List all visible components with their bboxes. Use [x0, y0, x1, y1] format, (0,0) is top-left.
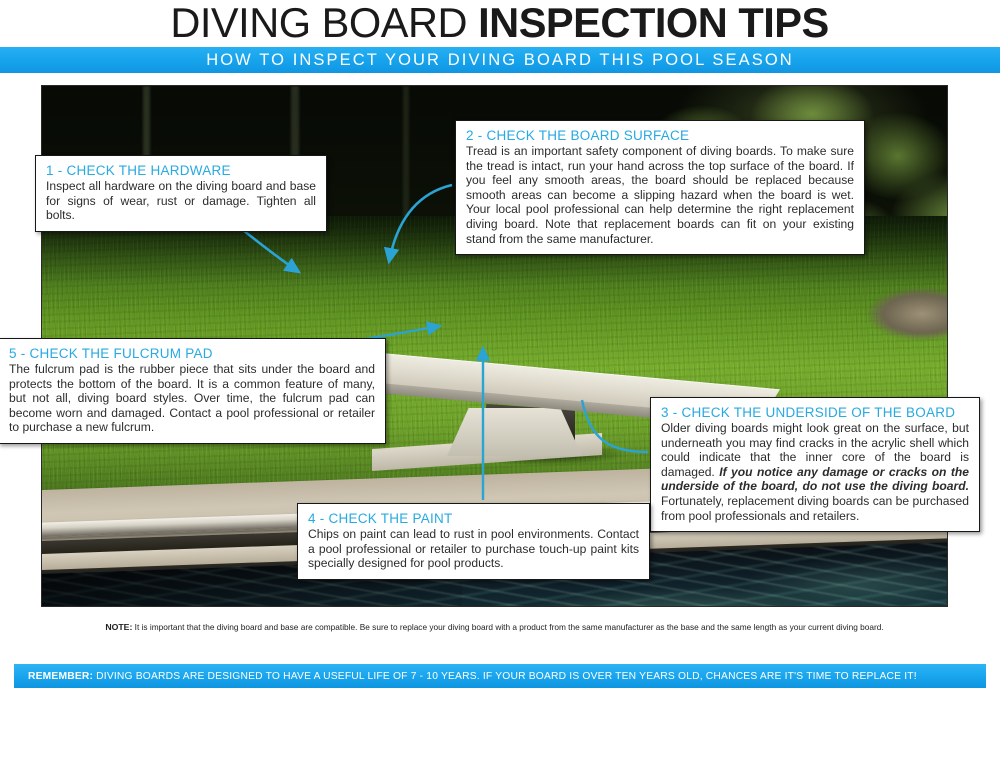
- photo-shrub: [862, 276, 948, 356]
- footer: S.R. Smith ® QUESTIONS? CALL YOUR LOCAL …: [0, 694, 1000, 763]
- callout-box-4-paint[interactable]: 4 - CHECK THE PAINT Chips on paint can l…: [297, 503, 650, 580]
- subtitle-text: HOW TO INSPECT YOUR DIVING BOARD THIS PO…: [206, 51, 794, 70]
- callout-3-body: Older diving boards might look great on …: [661, 421, 969, 523]
- remember-label: REMEMBER:: [28, 671, 93, 682]
- note-text: It is important that the diving board an…: [132, 622, 883, 632]
- callout-3-body-part2: Fortunately, replacement diving boards c…: [661, 494, 969, 523]
- callout-1-body: Inspect all hardware on the diving board…: [46, 179, 316, 223]
- note-line: NOTE: It is important that the diving bo…: [41, 622, 948, 633]
- note-label: NOTE:: [105, 622, 132, 632]
- remember-text-wrap: REMEMBER: DIVING BOARDS ARE DESIGNED TO …: [28, 671, 917, 682]
- callout-box-1-hardware[interactable]: 1 - CHECK THE HARDWARE Inspect all hardw…: [35, 155, 327, 232]
- callout-1-title: 1 - CHECK THE HARDWARE: [46, 163, 316, 178]
- callout-box-5-fulcrum-pad[interactable]: 5 - CHECK THE FULCRUM PAD The fulcrum pa…: [0, 338, 386, 444]
- subtitle-banner: HOW TO INSPECT YOUR DIVING BOARD THIS PO…: [0, 47, 1000, 73]
- remember-text: DIVING BOARDS ARE DESIGNED TO HAVE A USE…: [93, 671, 917, 682]
- callout-2-title: 2 - CHECK THE BOARD SURFACE: [466, 128, 854, 143]
- photo-board-stand: [447, 408, 582, 456]
- remember-banner: REMEMBER: DIVING BOARDS ARE DESIGNED TO …: [14, 664, 986, 688]
- callout-4-body: Chips on paint can lead to rust in pool …: [308, 527, 639, 571]
- callout-5-body: The fulcrum pad is the rubber piece that…: [9, 362, 375, 435]
- title-light-part: DIVING BOARD: [171, 0, 479, 45]
- infographic-page: DIVING BOARD INSPECTION TIPS HOW TO INSP…: [0, 0, 1000, 763]
- callout-4-title: 4 - CHECK THE PAINT: [308, 511, 639, 526]
- title-bold-part: INSPECTION TIPS: [479, 0, 830, 45]
- callout-box-2-board-surface[interactable]: 2 - CHECK THE BOARD SURFACE Tread is an …: [455, 120, 865, 255]
- callout-box-3-underside[interactable]: 3 - CHECK THE UNDERSIDE OF THE BOARD Old…: [650, 397, 980, 532]
- page-title: DIVING BOARD INSPECTION TIPS: [0, 0, 1000, 45]
- callout-3-title: 3 - CHECK THE UNDERSIDE OF THE BOARD: [661, 405, 969, 420]
- callout-2-body: Tread is an important safety component o…: [466, 144, 854, 246]
- callout-5-title: 5 - CHECK THE FULCRUM PAD: [9, 346, 375, 361]
